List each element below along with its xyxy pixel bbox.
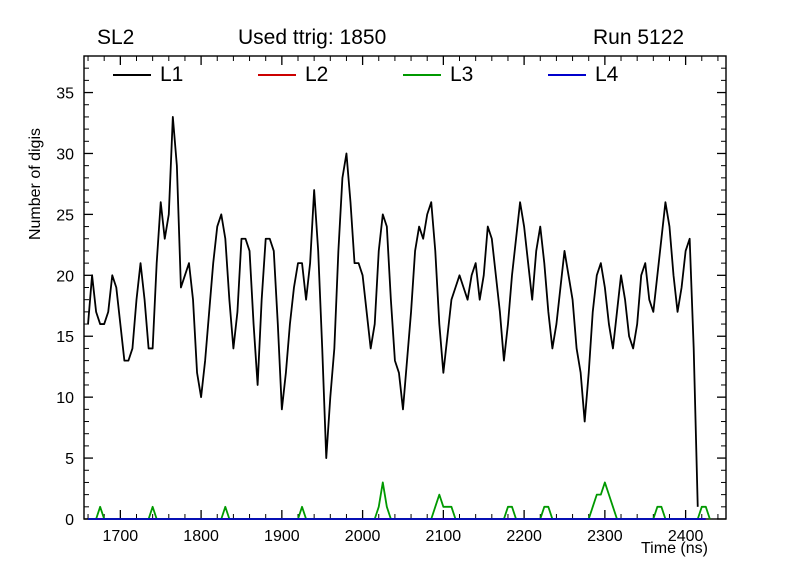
x-tick-label: 1900 bbox=[264, 528, 300, 545]
x-tick-label: 1800 bbox=[183, 528, 219, 545]
y-tick-label: 15 bbox=[56, 329, 74, 346]
series-line-l3 bbox=[88, 482, 710, 519]
y-tick-label: 25 bbox=[56, 207, 74, 224]
x-tick-label: 2300 bbox=[587, 528, 623, 545]
y-tick-label: 0 bbox=[65, 512, 74, 529]
x-tick-label: 2000 bbox=[345, 528, 381, 545]
chart-canvas: SL2 Used ttrig: 1850 Run 5122 Number of … bbox=[0, 0, 796, 572]
x-tick-label: 2100 bbox=[426, 528, 462, 545]
y-tick-label: 20 bbox=[56, 268, 74, 285]
y-tick-label: 35 bbox=[56, 86, 74, 103]
plot-area: 1700180019002000210022002300240005101520… bbox=[0, 0, 796, 572]
x-tick-label: 1700 bbox=[103, 528, 139, 545]
x-tick-label: 2200 bbox=[506, 528, 542, 545]
y-tick-label: 10 bbox=[56, 390, 74, 407]
series-line-l1 bbox=[88, 117, 698, 507]
y-tick-label: 30 bbox=[56, 146, 74, 163]
y-tick-label: 5 bbox=[65, 451, 74, 468]
x-tick-label: 2400 bbox=[668, 528, 704, 545]
